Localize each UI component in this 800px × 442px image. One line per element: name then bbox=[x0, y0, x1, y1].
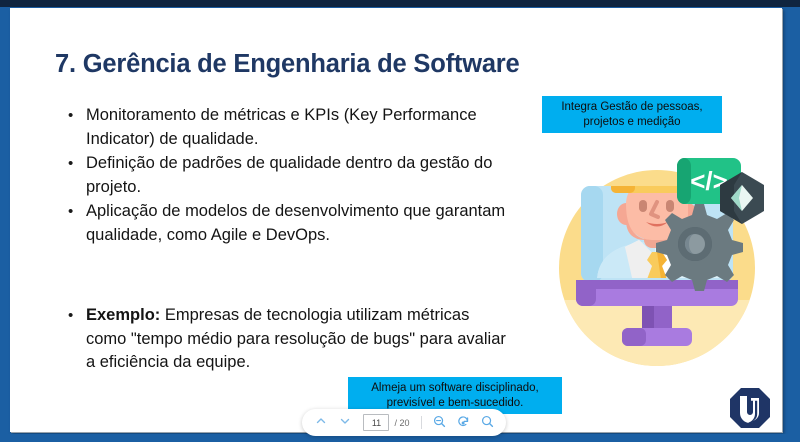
example-text: Exemplo: Empresas de tecnologia utilizam… bbox=[86, 304, 512, 375]
zoom-in-icon bbox=[481, 415, 494, 431]
page-number-input[interactable] bbox=[363, 414, 389, 431]
bullet-marker: • bbox=[62, 104, 86, 128]
list-item-example: • Exemplo: Empresas de tecnologia utiliz… bbox=[62, 304, 512, 375]
example-label: Exemplo: bbox=[86, 306, 160, 324]
list-item: • Monitoramento de métricas e KPIs (Key … bbox=[62, 104, 512, 151]
list-item: • Definição de padrões de qualidade dent… bbox=[62, 152, 512, 199]
callout-top: Integra Gestão de pessoas, projetos e me… bbox=[542, 96, 722, 133]
toolbar-separator bbox=[421, 416, 422, 429]
bullet-marker: • bbox=[62, 200, 86, 224]
zoom-in-button[interactable] bbox=[477, 412, 498, 433]
slide-page: 7. Gerência de Engenharia de Software • … bbox=[10, 8, 782, 432]
bullet-list: • Monitoramento de métricas e KPIs (Key … bbox=[62, 104, 512, 248]
list-item-text: Monitoramento de métricas e KPIs (Key Pe… bbox=[86, 104, 512, 151]
software-engineer-monitor-illustration: </> bbox=[540, 140, 770, 370]
next-page-button[interactable] bbox=[334, 412, 355, 433]
pdf-toolbar: / 20 bbox=[302, 409, 506, 436]
page-total-label: / 20 bbox=[394, 418, 409, 428]
list-item-text: Definição de padrões de qualidade dentro… bbox=[86, 152, 512, 199]
example-block: • Exemplo: Empresas de tecnologia utiliz… bbox=[62, 304, 512, 376]
ufu-logo bbox=[728, 386, 772, 430]
fit-page-button[interactable] bbox=[453, 412, 474, 433]
zoom-out-icon bbox=[433, 415, 446, 431]
viewer-top-strip bbox=[0, 0, 800, 7]
bullet-marker: • bbox=[62, 304, 86, 328]
list-item: • Aplicação de modelos de desenvolviment… bbox=[62, 200, 512, 247]
zoom-out-button[interactable] bbox=[429, 412, 450, 433]
pdf-viewer: 7. Gerência de Engenharia de Software • … bbox=[0, 0, 800, 442]
previous-page-button[interactable] bbox=[310, 412, 331, 433]
chevron-down-icon bbox=[339, 415, 351, 430]
page-title: 7. Gerência de Engenharia de Software bbox=[55, 50, 520, 79]
chevron-up-icon bbox=[315, 415, 327, 430]
bullet-marker: • bbox=[62, 152, 86, 176]
fit-page-icon bbox=[457, 415, 470, 431]
list-item-text: Aplicação de modelos de desenvolvimento … bbox=[86, 200, 512, 247]
